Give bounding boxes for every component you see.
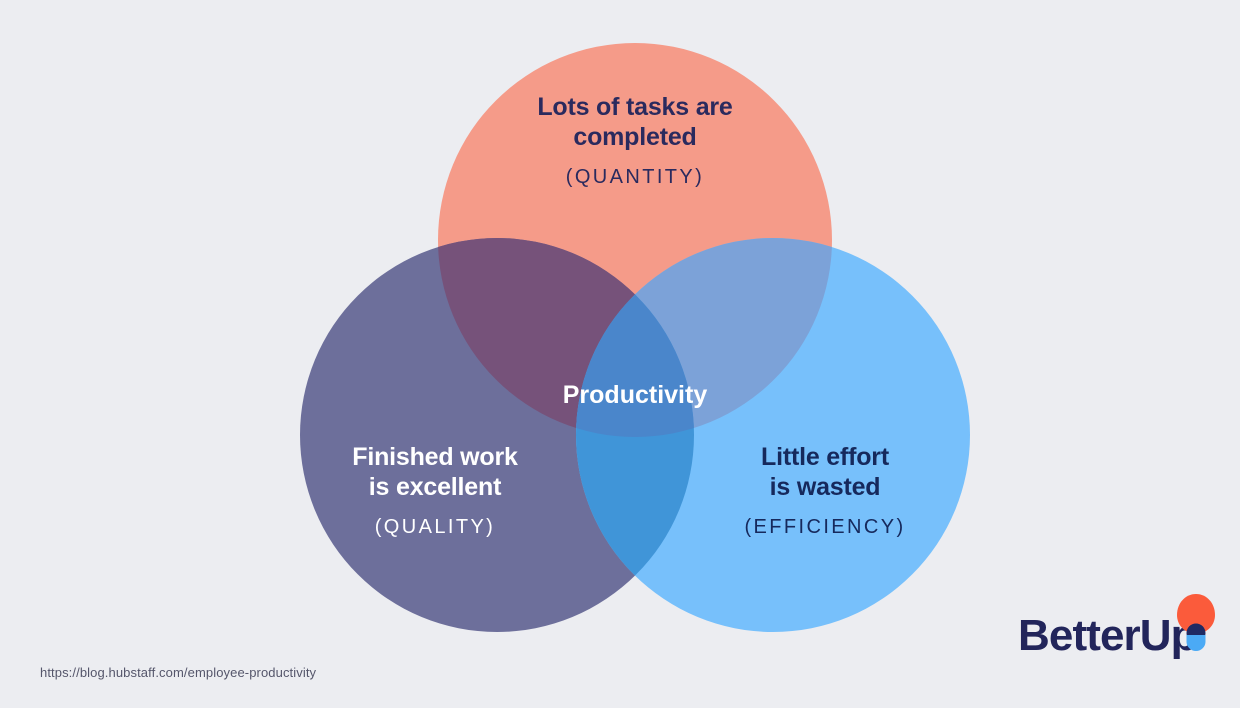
venn-label-efficiency-subtitle: (EFFICIENCY): [680, 516, 970, 540]
venn-label-efficiency-title-line1: Little effort: [680, 443, 970, 473]
venn-label-quality-title-line1: Finished work: [285, 443, 585, 473]
venn-label-efficiency: Little effort is wasted (EFFICIENCY): [680, 443, 970, 540]
source-url-text: https://blog.hubstaff.com/employee-produ…: [40, 665, 316, 680]
venn-label-quantity: Lots of tasks are completed (QUANTITY): [455, 93, 815, 190]
venn-label-quality-subtitle: (QUALITY): [285, 516, 585, 540]
venn-label-quantity-title-line1: Lots of tasks are: [455, 93, 815, 123]
betterup-wordmark: BetterUp: [1018, 614, 1197, 658]
venn-label-quantity-subtitle: (QUANTITY): [455, 166, 815, 190]
venn-label-quality: Finished work is excellent (QUALITY): [285, 443, 585, 540]
venn-label-efficiency-title-line2: is wasted: [680, 473, 970, 503]
venn-label-quantity-title-line2: completed: [455, 123, 815, 153]
betterup-logo: BetterUp: [1018, 592, 1218, 662]
venn-label-quality-title-line2: is excellent: [285, 473, 585, 503]
venn-label-productivity: Productivity: [520, 381, 750, 411]
betterup-balloon-mark-icon: [1174, 592, 1218, 652]
